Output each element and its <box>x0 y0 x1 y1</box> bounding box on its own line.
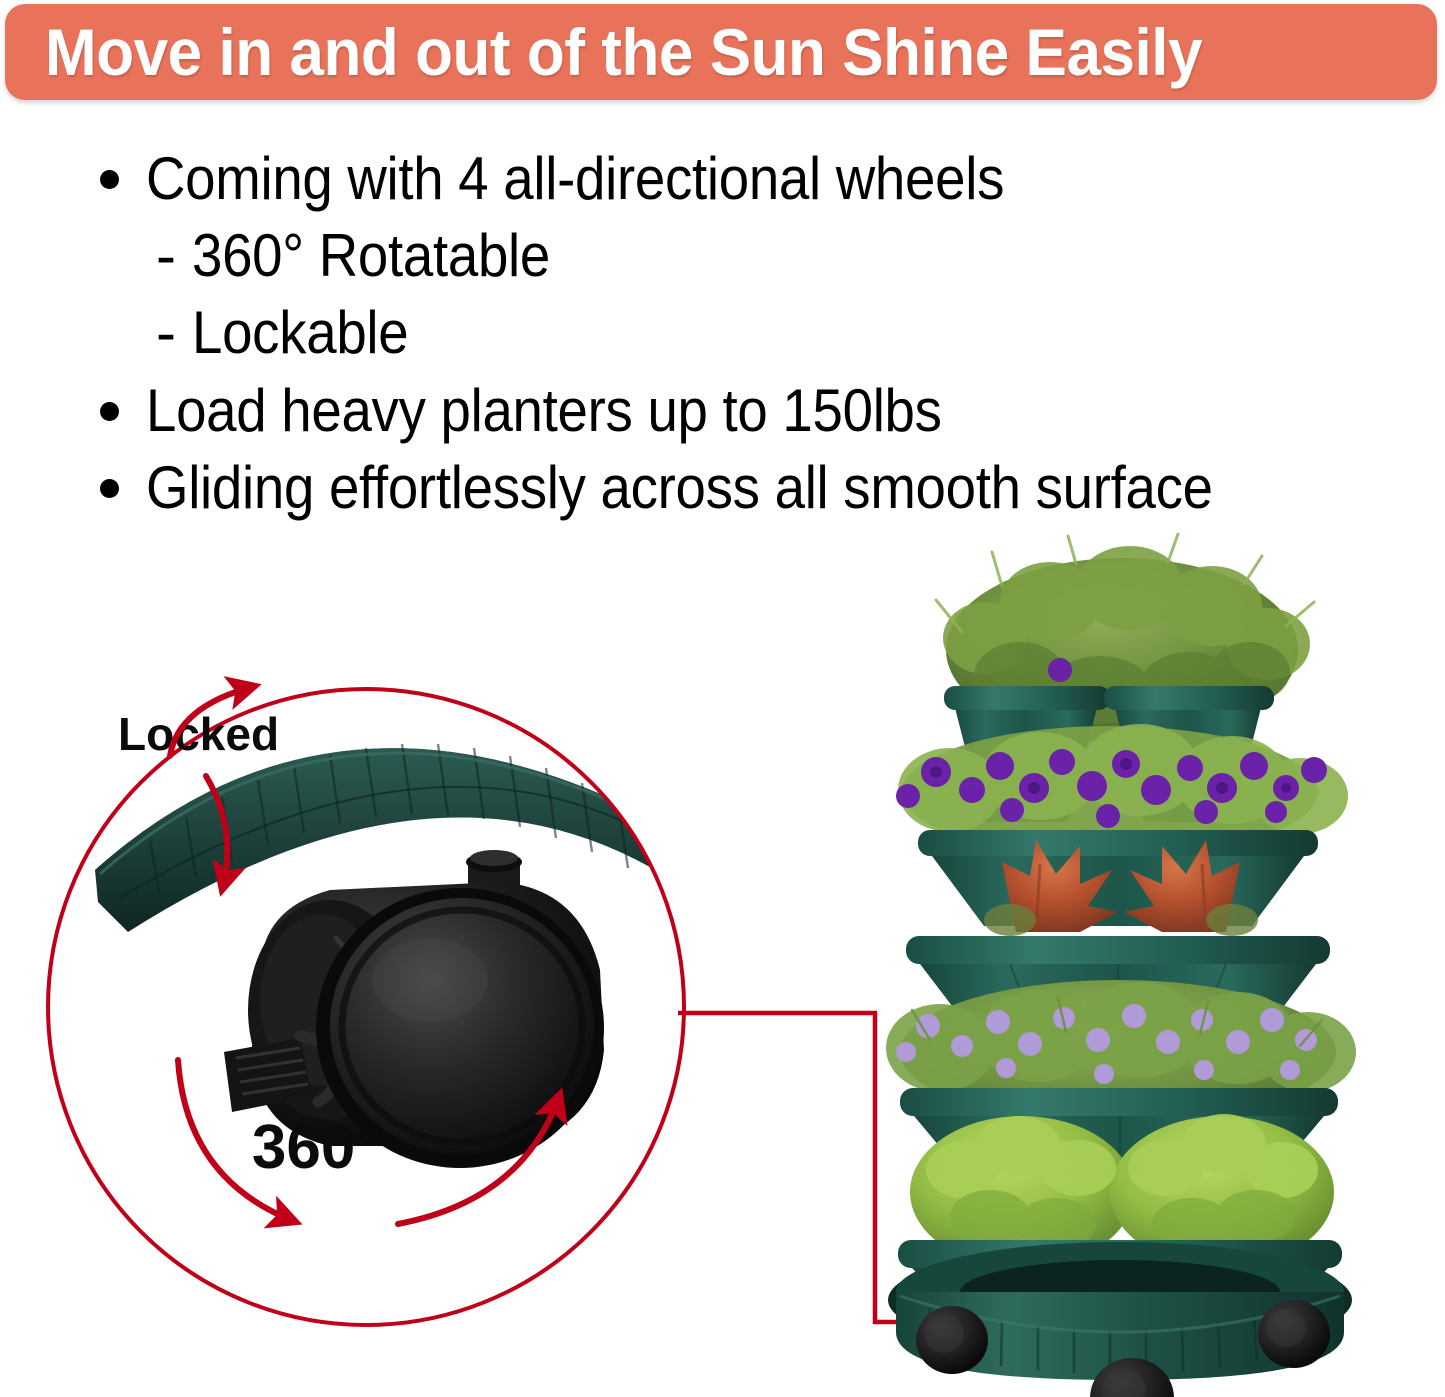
feature-list: Coming with 4 all-directional wheels - 3… <box>100 148 1430 534</box>
header-banner: Move in and out of the Sun Shine Easily <box>5 4 1437 100</box>
stackable-planter-tower <box>0 540 1445 1397</box>
dash-icon: - <box>156 226 176 286</box>
list-item-label: Gliding effortlessly across all smooth s… <box>146 457 1213 518</box>
list-item-label: Coming with 4 all-directional wheels <box>146 148 1004 209</box>
dash-icon: - <box>156 303 176 363</box>
list-item: Gliding effortlessly across all smooth s… <box>100 457 1430 518</box>
list-item-label: Load heavy planters up to 150lbs <box>146 380 942 441</box>
bullet-icon <box>100 402 119 421</box>
list-item: - 360° Rotatable <box>100 225 1430 286</box>
list-item: Coming with 4 all-directional wheels <box>100 148 1430 209</box>
list-item-label: Lockable <box>192 302 408 363</box>
bullet-icon <box>100 479 119 498</box>
planter-tier-2-pot <box>918 830 1318 926</box>
list-item: Load heavy planters up to 150lbs <box>100 380 1430 441</box>
caddy-wheel <box>1258 1300 1330 1368</box>
page-title: Move in and out of the Sun Shine Easily <box>45 19 1202 85</box>
caddy-wheel <box>916 1306 988 1374</box>
bullet-icon <box>100 170 119 189</box>
list-item: - Lockable <box>100 302 1430 363</box>
product-graphic-area: Locked 360° <box>0 540 1445 1397</box>
list-item-label: 360° Rotatable <box>192 225 550 286</box>
